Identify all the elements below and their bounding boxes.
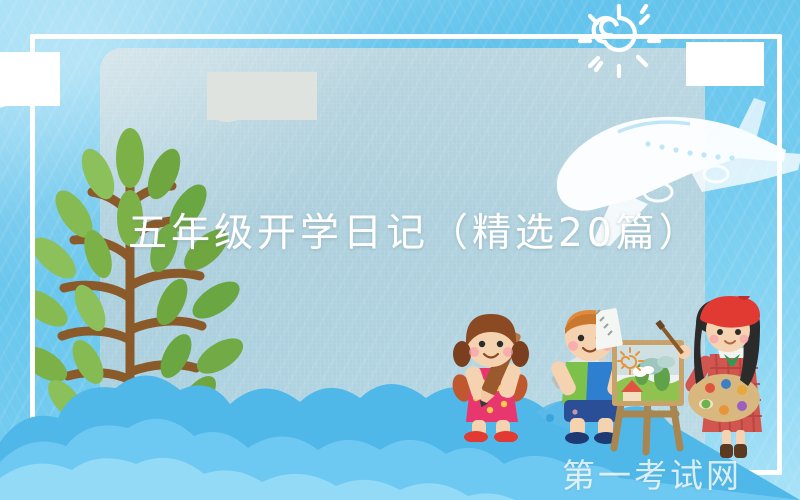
cover-banner: 五年级开学日记（精选20篇） 第一考试网: [0, 0, 800, 500]
child-artist-at-easel: [596, 296, 796, 462]
site-watermark: 第一考试网: [562, 449, 742, 497]
page-title: 五年级开学日记（精选20篇）: [128, 206, 694, 261]
